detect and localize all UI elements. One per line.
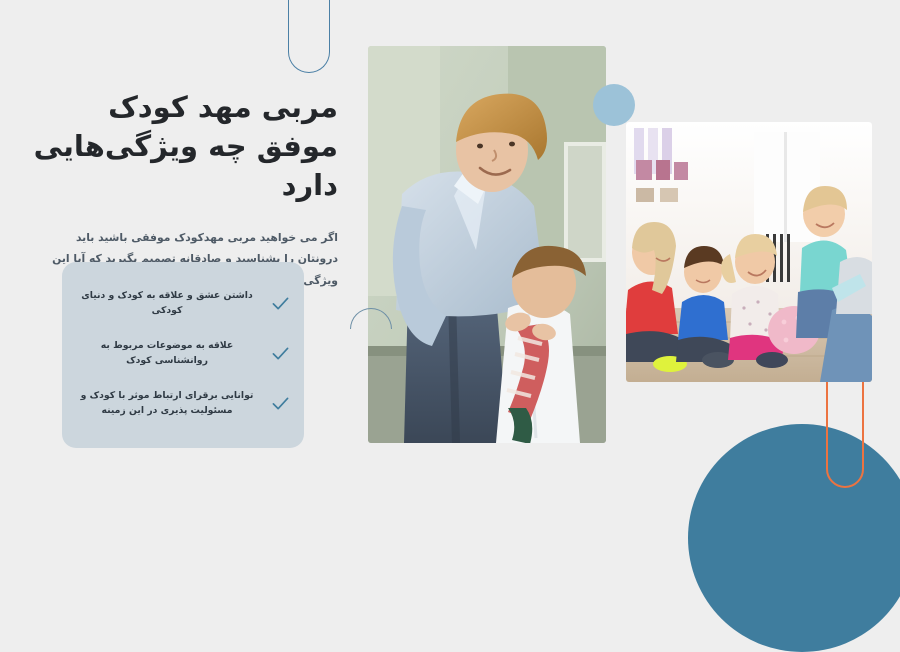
teacher-with-child-photo [368,46,606,443]
features-card: داشتن عشق و علاقه به کودک و دنیای کودکی … [62,262,304,448]
feature-item[interactable]: توانایی برقرای ارتباط موثر با کودک و مسئ… [76,388,290,418]
feature-label: توانایی برقرای ارتباط موثر با کودک و مسئ… [76,388,258,418]
slide-canvas: مربی مهد کودک موفق چه ویژگی‌هایی دارد اگ… [0,0,900,500]
check-icon [271,344,290,363]
u-outline-shape [288,0,330,73]
features-list: داشتن عشق و علاقه به کودک و دنیای کودکی … [62,262,304,448]
blue-half-circle [688,424,900,652]
feature-label: علاقه به موضوعات مربوط به روانشناسی کودک [76,338,258,368]
check-icon [271,394,290,413]
blue-circle-dot [593,84,635,126]
check-icon [271,294,290,313]
page-title: مربی مهد کودک موفق چه ویژگی‌هایی دارد [18,88,338,205]
children-group-photo [626,122,872,382]
feature-label: داشتن عشق و علاقه به کودک و دنیای کودکی [76,288,258,318]
feature-item[interactable]: علاقه به موضوعات مربوط به روانشناسی کودک [76,338,290,368]
feature-item[interactable]: داشتن عشق و علاقه به کودک و دنیای کودکی [76,288,290,318]
